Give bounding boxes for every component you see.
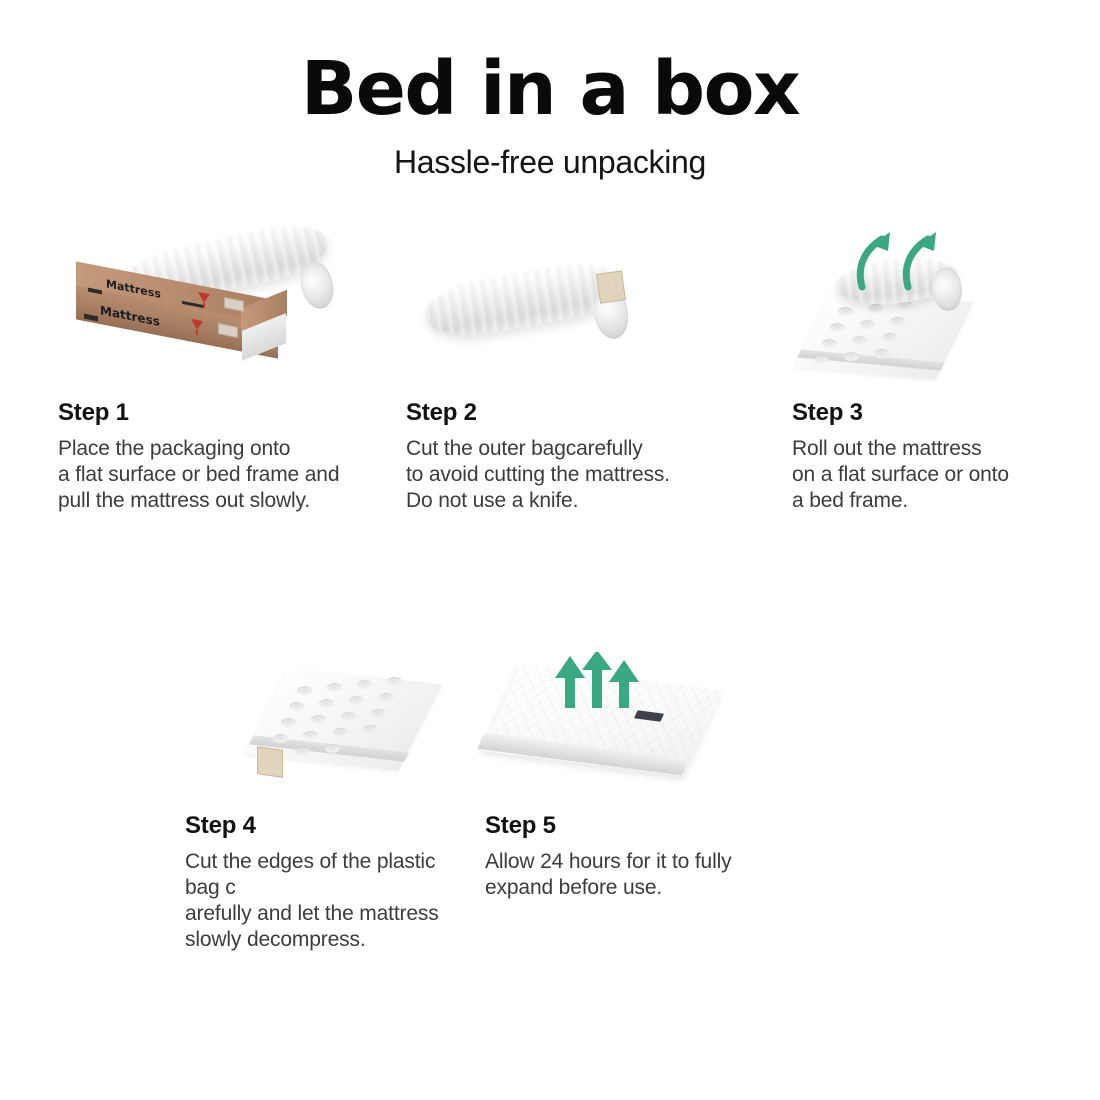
mattress-dimple	[838, 307, 853, 316]
mattress-dimple	[327, 683, 342, 692]
mattress-dimple	[844, 352, 859, 361]
mattress-dimple	[868, 304, 883, 313]
header: Bed in a box Hassle-free unpacking	[0, 0, 1100, 181]
mattress-dimple	[379, 693, 394, 702]
mattress-dimple	[371, 709, 386, 718]
step-1-illustration: Mattress Mattress	[58, 225, 394, 400]
step-3-description: Roll out the mattress on a flat surface …	[792, 436, 1100, 514]
up-arrow-trio	[549, 652, 645, 710]
steps-row-top: Mattress Mattress Step 1 Place the packa…	[0, 225, 1100, 514]
mattress-dimple	[341, 712, 356, 721]
step-5-illustration	[485, 648, 930, 813]
step-3-illustration	[792, 225, 1100, 400]
page-title: Bed in a box	[0, 0, 1100, 126]
mattress-dimple	[357, 680, 372, 689]
step-4-title: Step 4	[185, 813, 470, 839]
mattress-dimple	[319, 699, 334, 708]
mattress-dimple	[311, 715, 326, 724]
step-card-3: Step 3 Roll out the mattress on a flat s…	[767, 225, 1100, 514]
mattress-dimple	[333, 728, 348, 737]
product-label-tag	[257, 746, 283, 778]
step-card-4: Step 4 Cut the edges of the plastic bag …	[0, 648, 470, 954]
mattress-dimple	[874, 349, 889, 358]
steps-row-bottom: Step 4 Cut the edges of the plastic bag …	[0, 648, 1100, 954]
mattress-dimple	[822, 339, 837, 348]
step-4-description: Cut the edges of the plastic bag c arefu…	[185, 849, 470, 953]
mattress-dimple	[273, 734, 288, 743]
step-card-2: Step 2 Cut the outer bagcarefully to avo…	[394, 225, 767, 514]
step-2-title: Step 2	[406, 400, 767, 426]
mattress-dimple	[295, 747, 310, 756]
step-1-title: Step 1	[58, 400, 394, 426]
mattress-dimple	[297, 686, 312, 695]
step-card-5: Step 5 Allow 24 hours for it to fully ex…	[470, 648, 930, 954]
step-1-description: Place the packaging onto a flat surface …	[58, 436, 394, 514]
mattress-dimple	[325, 744, 340, 753]
mattress-dimple	[882, 333, 897, 342]
mattress-dimple	[890, 317, 905, 326]
mattress-dimple	[860, 320, 875, 329]
step-5-title: Step 5	[485, 813, 930, 839]
mattress-dimple	[814, 355, 829, 364]
mattress-dimple	[349, 696, 364, 705]
step-card-1: Mattress Mattress Step 1 Place the packa…	[0, 225, 394, 514]
step-4-illustration	[185, 648, 470, 813]
step-2-illustration	[406, 225, 767, 400]
mattress-dimple	[281, 718, 296, 727]
fragile-icon-top-stem	[203, 303, 205, 308]
product-label-tag	[596, 270, 626, 303]
mattress-dimple	[303, 731, 318, 740]
mattress-dimple	[363, 725, 378, 734]
mattress-dimple	[852, 336, 867, 345]
page-subtitle: Hassle-free unpacking	[0, 126, 1100, 181]
step-2-description: Cut the outer bagcarefully to avoid cutt…	[406, 436, 767, 514]
mattress-dimple	[387, 677, 402, 686]
mattress-dimple	[830, 323, 845, 332]
fragile-icon-front-stem	[196, 330, 198, 335]
step-5-description: Allow 24 hours for it to fully expand be…	[485, 849, 930, 901]
curved-up-arrow-pair	[852, 229, 962, 291]
step-3-title: Step 3	[792, 400, 1100, 426]
mattress-dimple	[289, 702, 304, 711]
